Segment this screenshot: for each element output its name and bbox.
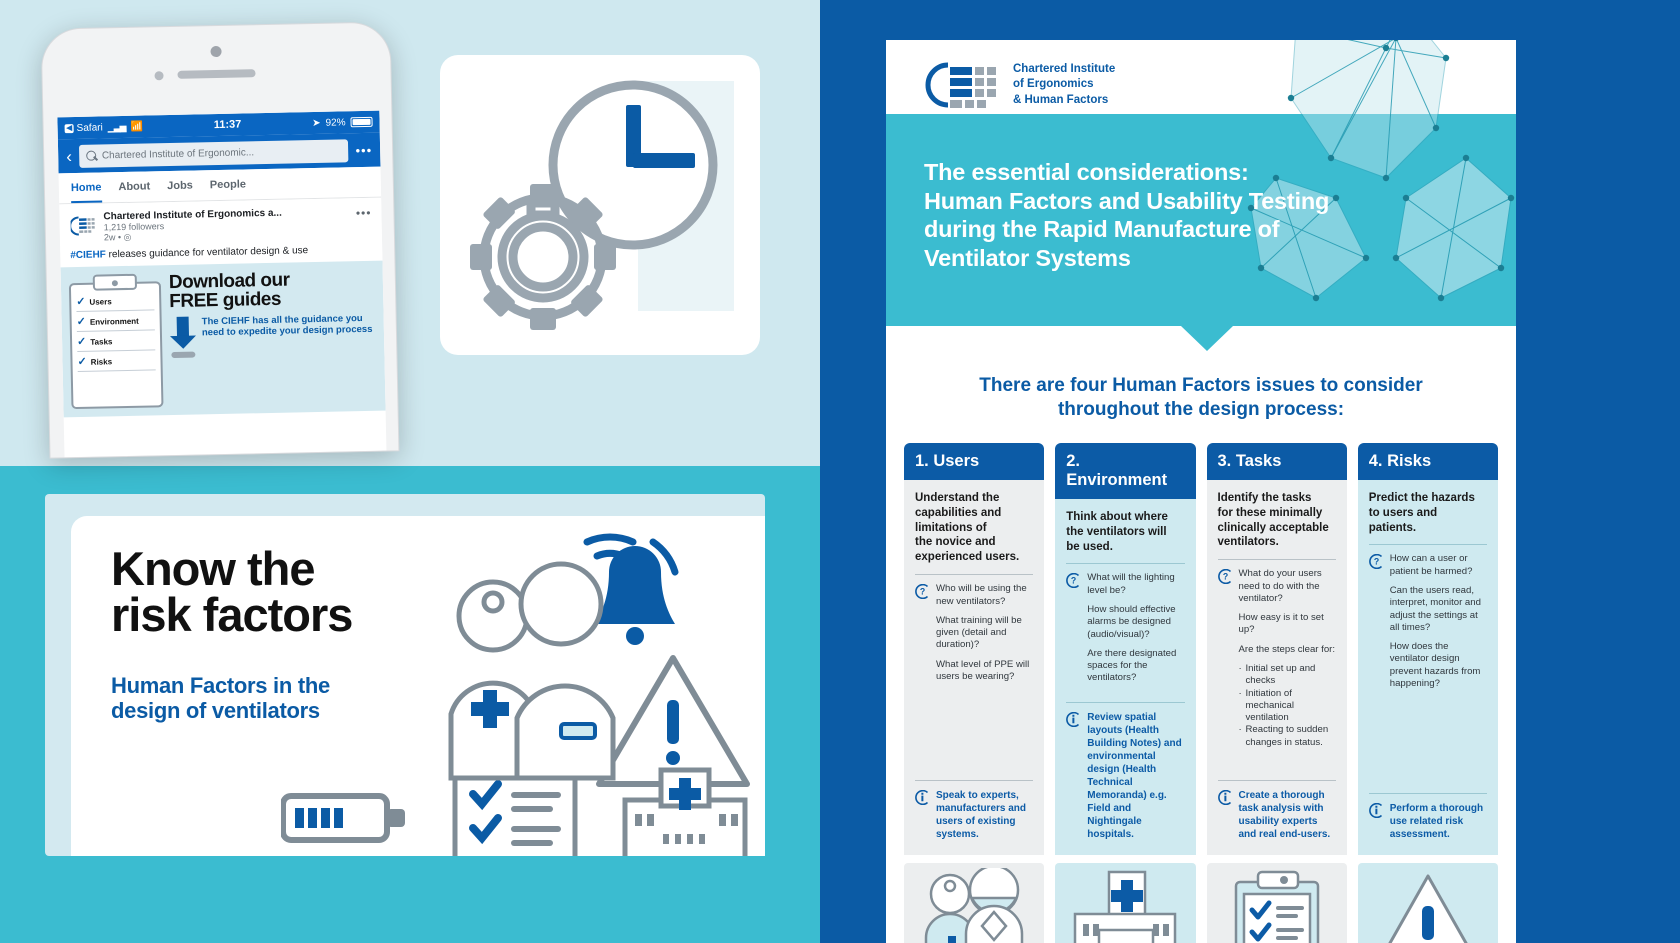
column-lead-tasks: Identify the tasks for these minimally c… xyxy=(1218,491,1336,551)
question-tertiary-environment: Are there designated spaces for the vent… xyxy=(1087,648,1184,685)
tab-jobs[interactable]: Jobs xyxy=(167,171,193,202)
info-block-environment: Review spatial layouts (Health Building … xyxy=(1066,711,1184,841)
divider xyxy=(915,780,1033,781)
info-icon xyxy=(1369,803,1384,818)
left-showcase-panel: ◀ Safari ▁▃▅ 📶 11:37 ➤ 92% ‹ Chartered I… xyxy=(0,0,880,943)
logo-line-3: & Human Factors xyxy=(1013,93,1115,108)
info-icon xyxy=(915,790,930,805)
question-secondary-users: What training will be given (detail and … xyxy=(936,615,1033,652)
question-mark-icon: ? xyxy=(1066,573,1081,588)
doctors-icon xyxy=(451,564,613,778)
ciehf-logo: Chartered Institute of Ergonomics & Huma… xyxy=(924,60,1115,110)
question-tertiary-users: What level of PPE will users be wearing? xyxy=(936,659,1033,684)
column-lead-environment: Think about where the ventilators will b… xyxy=(1066,510,1184,555)
checklist-item: ✓ Risks xyxy=(77,355,155,372)
poster-title-band: The essential considerations: Human Fact… xyxy=(886,114,1516,326)
hospital-icon xyxy=(1065,868,1185,943)
question-mark-icon: ? xyxy=(915,584,930,599)
tab-home[interactable]: Home xyxy=(71,172,102,203)
wifi-icon: 📶 xyxy=(130,121,143,132)
info-block-tasks: Create a thorough task analysis with usa… xyxy=(1218,789,1336,841)
post-meta: Chartered Institute of Ergonomics a... 1… xyxy=(103,206,350,243)
checklist-item: ✓ Tasks xyxy=(77,335,155,352)
column-header-risks: 4. Risks xyxy=(1358,443,1498,480)
svg-text:?: ? xyxy=(1071,576,1076,586)
question-block-risks: ? How can a user or patient be harmed? xyxy=(1369,553,1487,578)
clipboard-icon xyxy=(1222,868,1332,943)
post-overflow-icon[interactable]: ••• xyxy=(356,206,372,220)
divider xyxy=(1218,559,1336,560)
battery-percent: 92% xyxy=(325,117,345,128)
column-header-environment: 2. Environment xyxy=(1055,443,1195,499)
issue-column-tasks: 3. Tasks Identify the tasks for these mi… xyxy=(1207,443,1347,855)
logo-line-1: Chartered Institute xyxy=(1013,62,1115,77)
column-body-users: Understand the capabilities and limitati… xyxy=(904,480,1044,855)
warning-triangle-icon xyxy=(599,658,747,784)
overflow-menu-icon[interactable]: ••• xyxy=(355,142,372,157)
info-text-risks: Perform a thorough use related risk asse… xyxy=(1390,802,1487,841)
issue-column-risks: 4. Risks Predict the hazards to users an… xyxy=(1358,443,1498,855)
phone-screen: ◀ Safari ▁▃▅ 📶 11:37 ➤ 92% ‹ Chartered I… xyxy=(57,111,386,458)
ios-clock: 11:37 xyxy=(148,117,307,132)
question-secondary-environment: How should effective alarms be designed … xyxy=(1087,604,1184,641)
column-header-users: 1. Users xyxy=(904,443,1044,480)
checklist-item: ✓ Environment xyxy=(77,315,155,332)
info-text-users: Speak to experts, manufacturers and user… xyxy=(936,789,1033,841)
issue-column-users: 1. Users Understand the capabilities and… xyxy=(904,443,1044,855)
info-text-tasks: Create a thorough task analysis with usa… xyxy=(1239,789,1336,841)
back-chevron-icon[interactable]: ‹ xyxy=(66,148,72,165)
search-icon xyxy=(86,150,97,161)
divider xyxy=(1369,793,1487,794)
search-input-value: Chartered Institute of Ergonomic... xyxy=(102,147,254,161)
question-primary-risks: How can a user or patient be harmed? xyxy=(1390,553,1487,578)
checklist-item: ✓ Users xyxy=(76,295,154,312)
ios-app-name: Safari xyxy=(77,122,103,134)
checklist-label: Risks xyxy=(91,357,113,366)
clipboard-icon: ✓ Users ✓ Environment ✓ Tasks xyxy=(69,273,164,409)
post-header: Chartered Institute of Ergonomics a... 1… xyxy=(59,198,382,249)
question-secondary-risks: Can the users read, interpret, monitor a… xyxy=(1390,585,1487,634)
check-icon: ✓ xyxy=(77,317,86,328)
svg-text:?: ? xyxy=(920,587,925,597)
column-lead-risks: Predict the hazards to users and patient… xyxy=(1369,491,1487,536)
divider xyxy=(1066,702,1184,703)
post-hashtag[interactable]: #CIEHF xyxy=(70,249,106,261)
know-risk-headline: Know the risk factors xyxy=(111,546,352,638)
clock-gear-graphic xyxy=(440,55,760,355)
divider xyxy=(1218,780,1336,781)
tab-about[interactable]: About xyxy=(118,171,150,202)
download-arrow-icon xyxy=(170,316,196,340)
signal-bars-icon: ▁▃▅ xyxy=(108,121,126,132)
download-card-subtitle: The CIEHF has all the guidance you need … xyxy=(202,313,376,340)
column-body-risks: Predict the hazards to users and patient… xyxy=(1358,480,1498,855)
location-arrow-icon: ➤ xyxy=(312,117,321,128)
band-notch-arrow xyxy=(1181,326,1233,351)
post-body-text: releases guidance for ventilator design … xyxy=(106,245,309,260)
tab-people[interactable]: People xyxy=(210,169,247,200)
phone-mockup: ◀ Safari ▁▃▅ 📶 11:37 ➤ 92% ‹ Chartered I… xyxy=(41,21,400,458)
question-tertiary-risks: How does the ventilator design prevent h… xyxy=(1390,641,1487,690)
svg-text:?: ? xyxy=(1374,557,1379,567)
task-bullet: Reacting to sudden changes in status. xyxy=(1239,724,1336,749)
checklist-label: Environment xyxy=(90,317,139,327)
info-block-risks: Perform a thorough use related risk asse… xyxy=(1369,802,1487,841)
icon-tile-hospital xyxy=(1055,863,1195,943)
phone-speaker-grille xyxy=(177,69,255,79)
divider xyxy=(915,574,1033,575)
svg-text:?: ? xyxy=(1222,572,1227,582)
poster-card: Chartered Institute of Ergonomics & Huma… xyxy=(886,40,1516,943)
task-bullet: Initiation of mechanical ventilation xyxy=(1239,688,1336,725)
divider xyxy=(1066,563,1184,564)
question-block-environment: ? What will the lighting level be? xyxy=(1066,572,1184,597)
icon-tile-clipboard xyxy=(1207,863,1347,943)
download-card-text: Download our FREE guides The CIEHF has a… xyxy=(169,269,378,407)
know-risk-card: Know the risk factors Human Factors in t… xyxy=(71,516,765,856)
task-bullet: Initial set up and checks xyxy=(1239,663,1336,688)
logo-line-2: of Ergonomics xyxy=(1013,77,1115,92)
download-guides-card[interactable]: ✓ Users ✓ Environment ✓ Tasks xyxy=(61,261,386,418)
ciehf-logo-icon xyxy=(924,60,1004,110)
task-bullet-list: Initial set up and checks Initiation of … xyxy=(1239,663,1336,749)
chevron-left-icon: ◀ xyxy=(65,124,74,133)
info-icon xyxy=(1218,790,1233,805)
column-body-tasks: Identify the tasks for these minimally c… xyxy=(1207,480,1347,855)
divider xyxy=(1369,544,1487,545)
phone-sensor-icon xyxy=(154,71,163,80)
question-primary-tasks: What do your users need to do with the v… xyxy=(1239,568,1336,605)
question-tertiary-tasks: Are the steps clear for: xyxy=(1239,644,1336,656)
section-title: There are four Human Factors issues to c… xyxy=(886,374,1516,423)
info-text-environment: Review spatial layouts (Health Building … xyxy=(1087,711,1184,841)
avatar xyxy=(69,212,98,241)
download-card-title: Download our FREE guides xyxy=(169,269,376,312)
know-risk-subhead: Human Factors in the design of ventilato… xyxy=(111,674,330,723)
column-body-environment: Think about where the ventilators will b… xyxy=(1055,499,1195,855)
checklist-label: Tasks xyxy=(90,337,112,346)
info-icon xyxy=(1066,712,1081,727)
check-icon: ✓ xyxy=(76,297,85,308)
doctors-icon xyxy=(914,868,1034,943)
search-input[interactable]: Chartered Institute of Ergonomic... xyxy=(79,139,349,168)
ciehf-logo-text: Chartered Institute of Ergonomics & Huma… xyxy=(1013,62,1115,108)
icon-tile-doctors xyxy=(904,863,1044,943)
question-mark-icon: ? xyxy=(1218,569,1233,584)
issue-column-environment: 2. Environment Think about where the ven… xyxy=(1055,443,1195,855)
icon-tile-warning xyxy=(1358,863,1498,943)
question-primary-users: Who will be using the new ventilators? xyxy=(936,583,1033,608)
warning-triangle-icon xyxy=(1373,868,1483,943)
question-block-tasks: ? What do your users need to do with the… xyxy=(1218,568,1336,605)
question-mark-icon: ? xyxy=(1369,554,1384,569)
phone-top-bezel xyxy=(42,22,392,117)
check-icon: ✓ xyxy=(77,357,86,368)
phone-camera-icon xyxy=(210,46,221,57)
poster-band-title: The essential considerations: Human Fact… xyxy=(924,158,1329,273)
check-icon: ✓ xyxy=(77,337,86,348)
ios-back-to-app[interactable]: ◀ Safari xyxy=(65,122,103,134)
question-primary-environment: What will the lighting level be? xyxy=(1087,572,1184,597)
info-block-users: Speak to experts, manufacturers and user… xyxy=(915,789,1033,841)
battery-icon xyxy=(350,117,372,127)
know-risk-factors-panel: Know the risk factors Human Factors in t… xyxy=(45,494,765,856)
poster-icon-row xyxy=(886,855,1516,943)
checklist-label: Users xyxy=(89,297,111,306)
column-lead-users: Understand the capabilities and limitati… xyxy=(915,491,1033,566)
four-issue-columns: 1. Users Understand the capabilities and… xyxy=(886,423,1516,855)
battery-icon xyxy=(281,790,411,846)
screenshot-stage: ◀ Safari ▁▃▅ 📶 11:37 ➤ 92% ‹ Chartered I… xyxy=(0,0,1680,943)
column-header-tasks: 3. Tasks xyxy=(1207,443,1347,480)
question-secondary-tasks: How easy is it to set up? xyxy=(1239,612,1336,637)
question-block-users: ? Who will be using the new ventilators? xyxy=(915,583,1033,608)
